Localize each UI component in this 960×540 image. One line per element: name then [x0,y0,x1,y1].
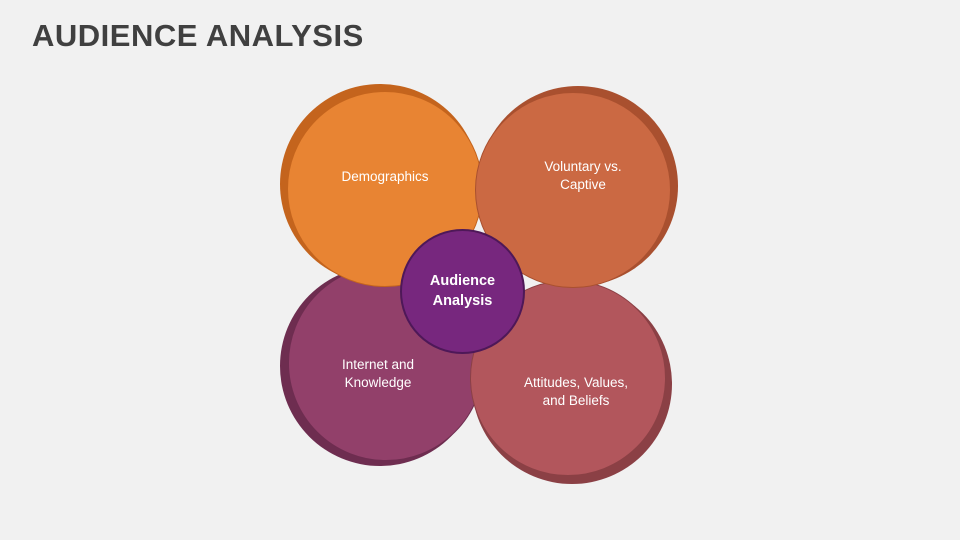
lobe-label: Internet and Knowledge [324,356,432,392]
diagram-hub-audience-analysis[interactable]: Audience Analysis [400,229,525,354]
lobe-label: Demographics [323,168,446,186]
hub-label: Audience Analysis [430,272,495,311]
lobe-label: Voluntary vs. Captive [526,158,639,194]
slide-canvas: AUDIENCE ANALYSIS Internet and Knowledge… [0,0,960,540]
lobe-label-line2: and Beliefs [543,393,610,408]
page-title: AUDIENCE ANALYSIS [32,18,364,54]
audience-analysis-diagram: Internet and Knowledge Attitudes, Values… [280,84,680,494]
lobe-label-line1: Voluntary vs. [544,159,621,174]
hub-label-line2: Analysis [433,293,493,309]
hub-label-line1: Audience [430,273,495,289]
lobe-label-line1: Attitudes, Values, [524,375,628,390]
lobe-label-line1: Demographics [341,169,428,184]
lobe-label-line2: Captive [560,177,606,192]
lobe-label-line1: Internet and [342,357,414,372]
lobe-label-line2: Knowledge [345,375,412,390]
lobe-label: Attitudes, Values, and Beliefs [506,374,646,410]
